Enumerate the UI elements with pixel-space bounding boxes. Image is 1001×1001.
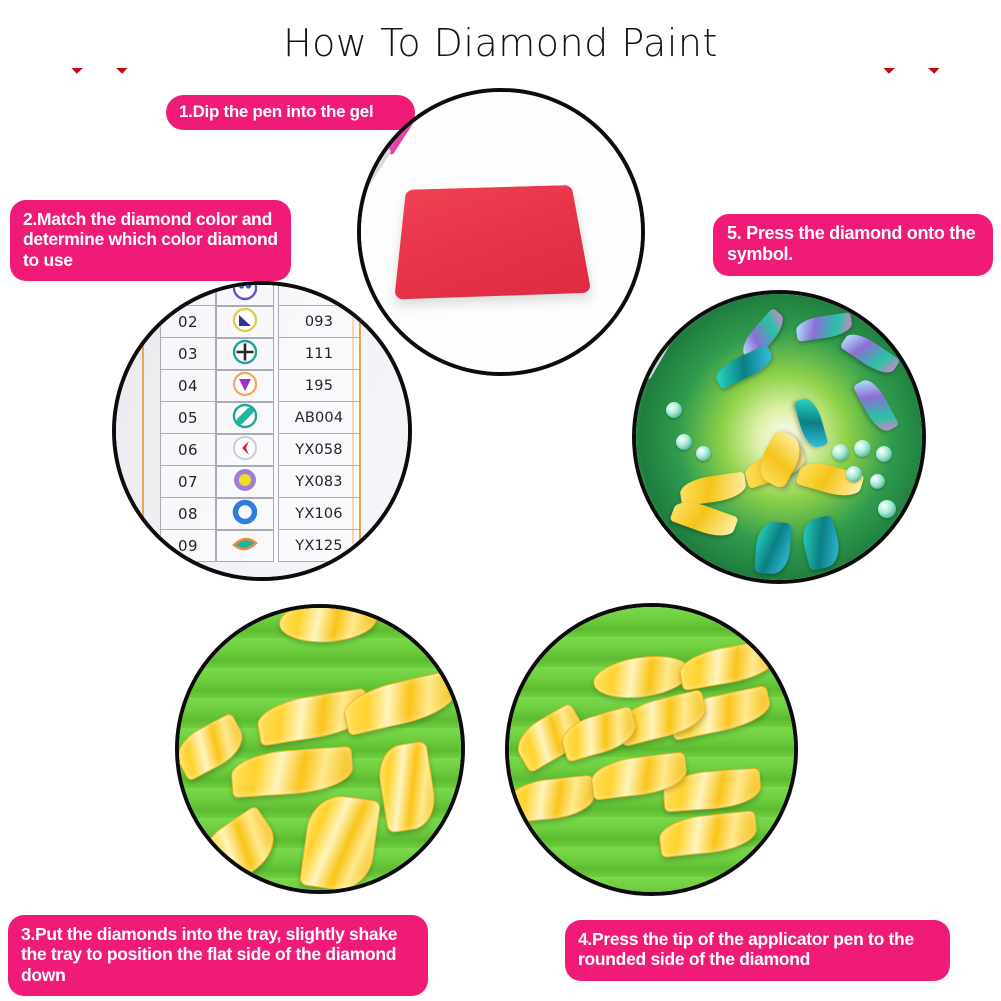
chart-row-code: YX125 [279, 530, 360, 562]
step-4-label: 4.Press the tip of the applicator pen to… [565, 920, 950, 981]
chart-row-code: 195 [279, 370, 360, 402]
chart-row: 07YX083 [161, 466, 360, 498]
chart-row-number: 03 [161, 338, 216, 370]
chart-row-code: YX083 [279, 466, 360, 498]
photo-circle-step-2: 0202093031110419505AB00406YX05807YX08308… [112, 281, 412, 581]
round-gem [876, 446, 892, 462]
chart-row-number: 05 [161, 402, 216, 434]
photo-circle-step-4 [505, 603, 798, 896]
gel-pad [394, 185, 591, 299]
chart-row: 03111 [161, 338, 360, 370]
gem-petal [853, 375, 900, 435]
applicator-pen [632, 290, 703, 443]
round-gem [696, 446, 711, 461]
round-gem [870, 474, 885, 489]
pen-shaft [505, 656, 506, 702]
teal-slash-circle-icon [216, 402, 274, 434]
color-chart-photo: 0202093031110419505AB00406YX05807YX08308… [116, 285, 408, 577]
chart-row-code: 111 [279, 338, 360, 370]
diamond-gem [340, 670, 461, 737]
chart-row: 02093 [161, 306, 360, 338]
round-gem [878, 500, 896, 518]
pen-body [632, 290, 697, 380]
diamond-gem [278, 604, 379, 645]
chart-guide-line [142, 285, 144, 577]
yellow-dot-circle-icon [216, 466, 274, 498]
gem-petal [798, 515, 843, 572]
double-dot-circle-icon [216, 281, 274, 306]
round-gem [846, 466, 862, 482]
chart-row: 08YX106 [161, 498, 360, 530]
chart-row-number: 08 [161, 498, 216, 530]
round-gem [676, 434, 692, 450]
diamond-gem [505, 775, 597, 824]
plus-circle-icon [216, 338, 274, 370]
diamond-tray-photo [179, 608, 461, 890]
chart-row-code: 093 [279, 306, 360, 338]
chart-row: 09YX125 [161, 530, 360, 562]
chart-row-number: 09 [161, 530, 216, 562]
gem-petal [679, 472, 748, 507]
step-3-label: 3.Put the diamonds into the tray, slight… [8, 915, 428, 996]
round-gem [854, 440, 871, 457]
mandala-canvas-photo [636, 294, 922, 580]
diamond-gem [299, 792, 381, 894]
chart-row-number: 06 [161, 434, 216, 466]
round-gem [666, 402, 682, 418]
red-arrow-circle-icon [216, 434, 274, 466]
diamond-pickup-photo [509, 607, 794, 892]
chart-row: 04195 [161, 370, 360, 402]
photo-circle-step-5 [632, 290, 926, 584]
chart-row-code: YX058 [279, 434, 360, 466]
color-symbol-chart: 0202093031110419505AB00406YX05807YX08308… [160, 281, 360, 562]
gem-petal [754, 521, 792, 575]
gem-petal [840, 328, 901, 380]
diamond-gem [375, 740, 440, 833]
pen-body [505, 603, 560, 676]
diamond-gem [191, 805, 286, 893]
purple-triangle-icon [216, 370, 274, 402]
chart-row-number [161, 281, 216, 306]
navy-triangle-icon [216, 306, 274, 338]
diamond-gem [677, 639, 780, 691]
chart-row: 05AB004 [161, 402, 360, 434]
diamond-gem [657, 810, 758, 858]
step-2-label: 2.Match the diamond color and determine … [10, 200, 291, 281]
chart-row-number: 02 [161, 306, 216, 338]
blue-ring-icon [216, 498, 274, 530]
chart-row-code: 02 [279, 281, 360, 306]
chart-row-number: 07 [161, 466, 216, 498]
diamond-gem [230, 746, 355, 798]
page-title: How To Diamond Paint [0, 18, 1001, 68]
photo-circle-step-3 [175, 604, 465, 894]
chart-row-code: AB004 [279, 402, 360, 434]
teal-leaf-icon [216, 530, 274, 562]
chart-row-code: YX106 [279, 498, 360, 530]
chart-row-number: 04 [161, 370, 216, 402]
page-title-text: How To Diamond Paint [269, 21, 732, 65]
pen-tip [632, 374, 636, 424]
round-gem [832, 444, 849, 461]
header-banner: How To Diamond Paint [0, 0, 1001, 86]
step-5-label: 5. Press the diamond onto the symbol. [713, 214, 993, 276]
chart-row: 02 [161, 281, 360, 306]
gem-petal [794, 396, 829, 450]
chart-row: 06YX058 [161, 434, 360, 466]
